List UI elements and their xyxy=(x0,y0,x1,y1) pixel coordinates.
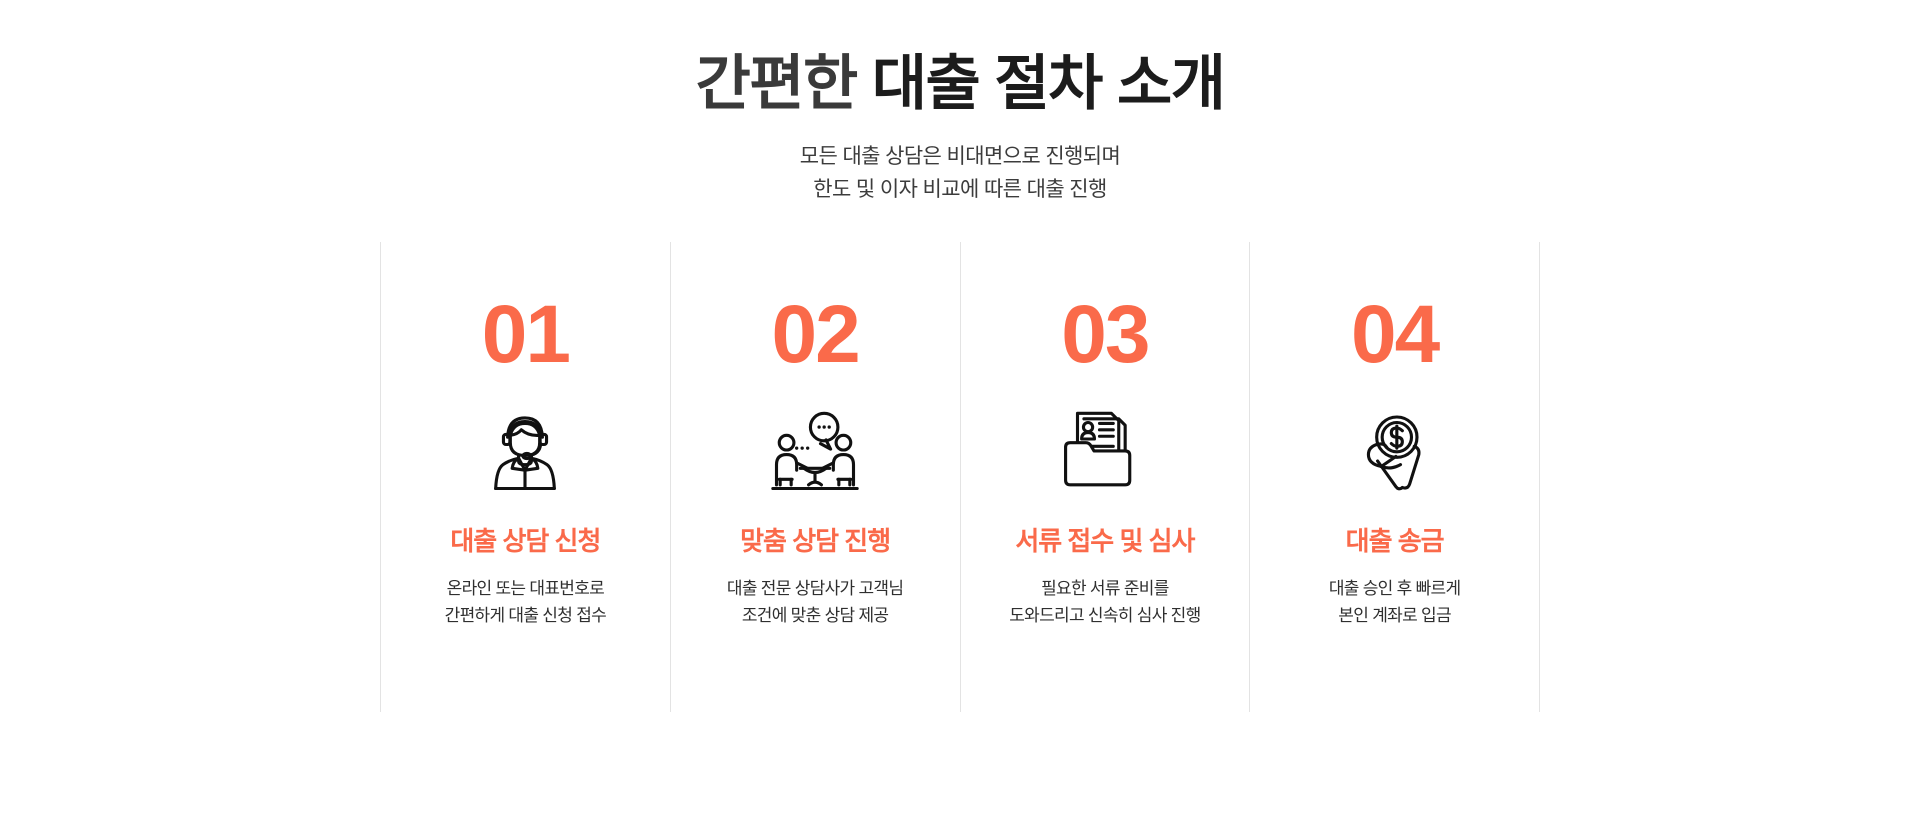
step-desc-03-line-2: 도와드리고 신속히 심사 진행 xyxy=(1009,602,1200,629)
page-subtitle: 모든 대출 상담은 비대면으로 진행되며 한도 및 이자 비교에 따른 대출 진… xyxy=(0,141,1920,206)
step-number-02: 02 xyxy=(772,294,859,376)
process-steps-row: 01 xyxy=(380,242,1540,712)
step-card-03: 03 xyxy=(960,242,1250,712)
step-desc-01: 온라인 또는 대표번호로 간편하게 대출 신청 접수 xyxy=(445,575,606,629)
page-title-light: 간편한 xyxy=(696,50,857,117)
step-desc-02-line-1: 대출 전문 상담사가 고객님 xyxy=(727,575,903,602)
headset-agent-icon xyxy=(470,404,580,496)
step-desc-02-line-2: 조건에 맞춘 상담 제공 xyxy=(727,602,903,629)
step-title-04: 대출 송금 xyxy=(1346,526,1444,557)
step-title-03: 서류 접수 및 심사 xyxy=(1015,526,1194,557)
step-card-04: 04 xyxy=(1249,242,1540,712)
step-desc-04-line-1: 대출 승인 후 빠르게 xyxy=(1329,575,1461,602)
step-desc-03-line-1: 필요한 서류 준비를 xyxy=(1009,575,1200,602)
step-desc-04: 대출 승인 후 빠르게 본인 계좌로 입금 xyxy=(1329,575,1461,629)
step-title-02: 맞춤 상담 진행 xyxy=(740,526,890,557)
step-desc-03: 필요한 서류 준비를 도와드리고 신속히 심사 진행 xyxy=(1009,575,1200,629)
subtitle-line-2: 한도 및 이자 비교에 따른 대출 진행 xyxy=(0,174,1920,207)
loan-process-page: 간편한 대출 절차 소개 모든 대출 상담은 비대면으로 진행되며 한도 및 이… xyxy=(0,0,1920,814)
step-title-01: 대출 상담 신청 xyxy=(450,526,600,557)
step-desc-01-line-2: 간편하게 대출 신청 접수 xyxy=(445,602,606,629)
document-folder-icon xyxy=(1050,404,1160,496)
hand-holding-coin-icon xyxy=(1340,404,1450,496)
step-card-01: 01 xyxy=(380,242,670,712)
step-desc-04-line-2: 본인 계좌로 입금 xyxy=(1329,602,1461,629)
subtitle-line-1: 모든 대출 상담은 비대면으로 진행되며 xyxy=(0,141,1920,174)
step-number-01: 01 xyxy=(482,294,569,376)
page-header: 간편한 대출 절차 소개 모든 대출 상담은 비대면으로 진행되며 한도 및 이… xyxy=(0,0,1920,206)
step-desc-02: 대출 전문 상담사가 고객님 조건에 맞춘 상담 제공 xyxy=(727,575,903,629)
page-title: 간편한 대출 절차 소개 xyxy=(0,52,1920,115)
step-number-04: 04 xyxy=(1351,294,1438,376)
consultation-meeting-icon xyxy=(760,404,870,496)
step-desc-01-line-1: 온라인 또는 대표번호로 xyxy=(445,575,606,602)
page-title-strong: 대출 절차 소개 xyxy=(872,50,1225,117)
step-card-02: 02 xyxy=(670,242,960,712)
step-number-03: 03 xyxy=(1061,294,1148,376)
